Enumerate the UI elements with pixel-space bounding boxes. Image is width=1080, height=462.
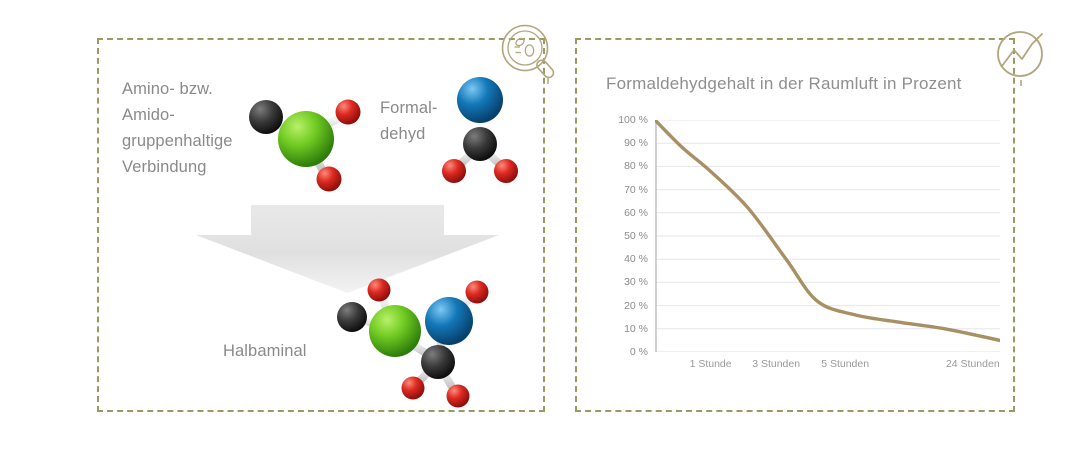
y-axis-tick: 100 % bbox=[600, 114, 648, 126]
y-axis-tick: 10 % bbox=[600, 323, 648, 335]
amino-compound-molecule bbox=[238, 82, 370, 194]
y-axis-labels: 100 %90 %80 %70 %60 %50 %40 %30 %20 %10 … bbox=[600, 120, 648, 352]
x-axis-labels: 1 Stunde3 Stunden5 Stunden24 Stunden bbox=[650, 358, 1000, 380]
trend-chart-icon bbox=[990, 22, 1056, 88]
y-axis-tick: 90 % bbox=[600, 137, 648, 149]
x-axis-tick: 3 Stunden bbox=[752, 358, 800, 370]
y-axis-tick: 50 % bbox=[600, 230, 648, 242]
infographic-stage: Amino- bzw. Amido- gruppenhaltige Verbin… bbox=[0, 0, 1080, 462]
y-axis-tick: 30 % bbox=[600, 276, 648, 288]
chart-plot bbox=[655, 120, 1000, 352]
chart-area: 100 %90 %80 %70 %60 %50 %40 %30 %20 %10 … bbox=[600, 120, 1000, 385]
halbaminal-molecule bbox=[325, 272, 501, 410]
y-axis-tick: 70 % bbox=[600, 184, 648, 196]
y-axis-tick: 0 % bbox=[600, 346, 648, 358]
y-axis-tick: 20 % bbox=[600, 300, 648, 312]
y-axis-tick: 40 % bbox=[600, 253, 648, 265]
y-axis-tick: 60 % bbox=[600, 207, 648, 219]
x-axis-tick: 1 Stunde bbox=[690, 358, 732, 370]
y-axis-tick: 80 % bbox=[600, 160, 648, 172]
chart-title: Formaldehydgehalt in der Raumluft in Pro… bbox=[606, 74, 962, 94]
data-series-line bbox=[655, 120, 1000, 340]
formaldehyde-molecule bbox=[434, 68, 526, 190]
x-axis-tick: 24 Stunden bbox=[946, 358, 1000, 370]
x-axis-tick: 5 Stunden bbox=[821, 358, 869, 370]
